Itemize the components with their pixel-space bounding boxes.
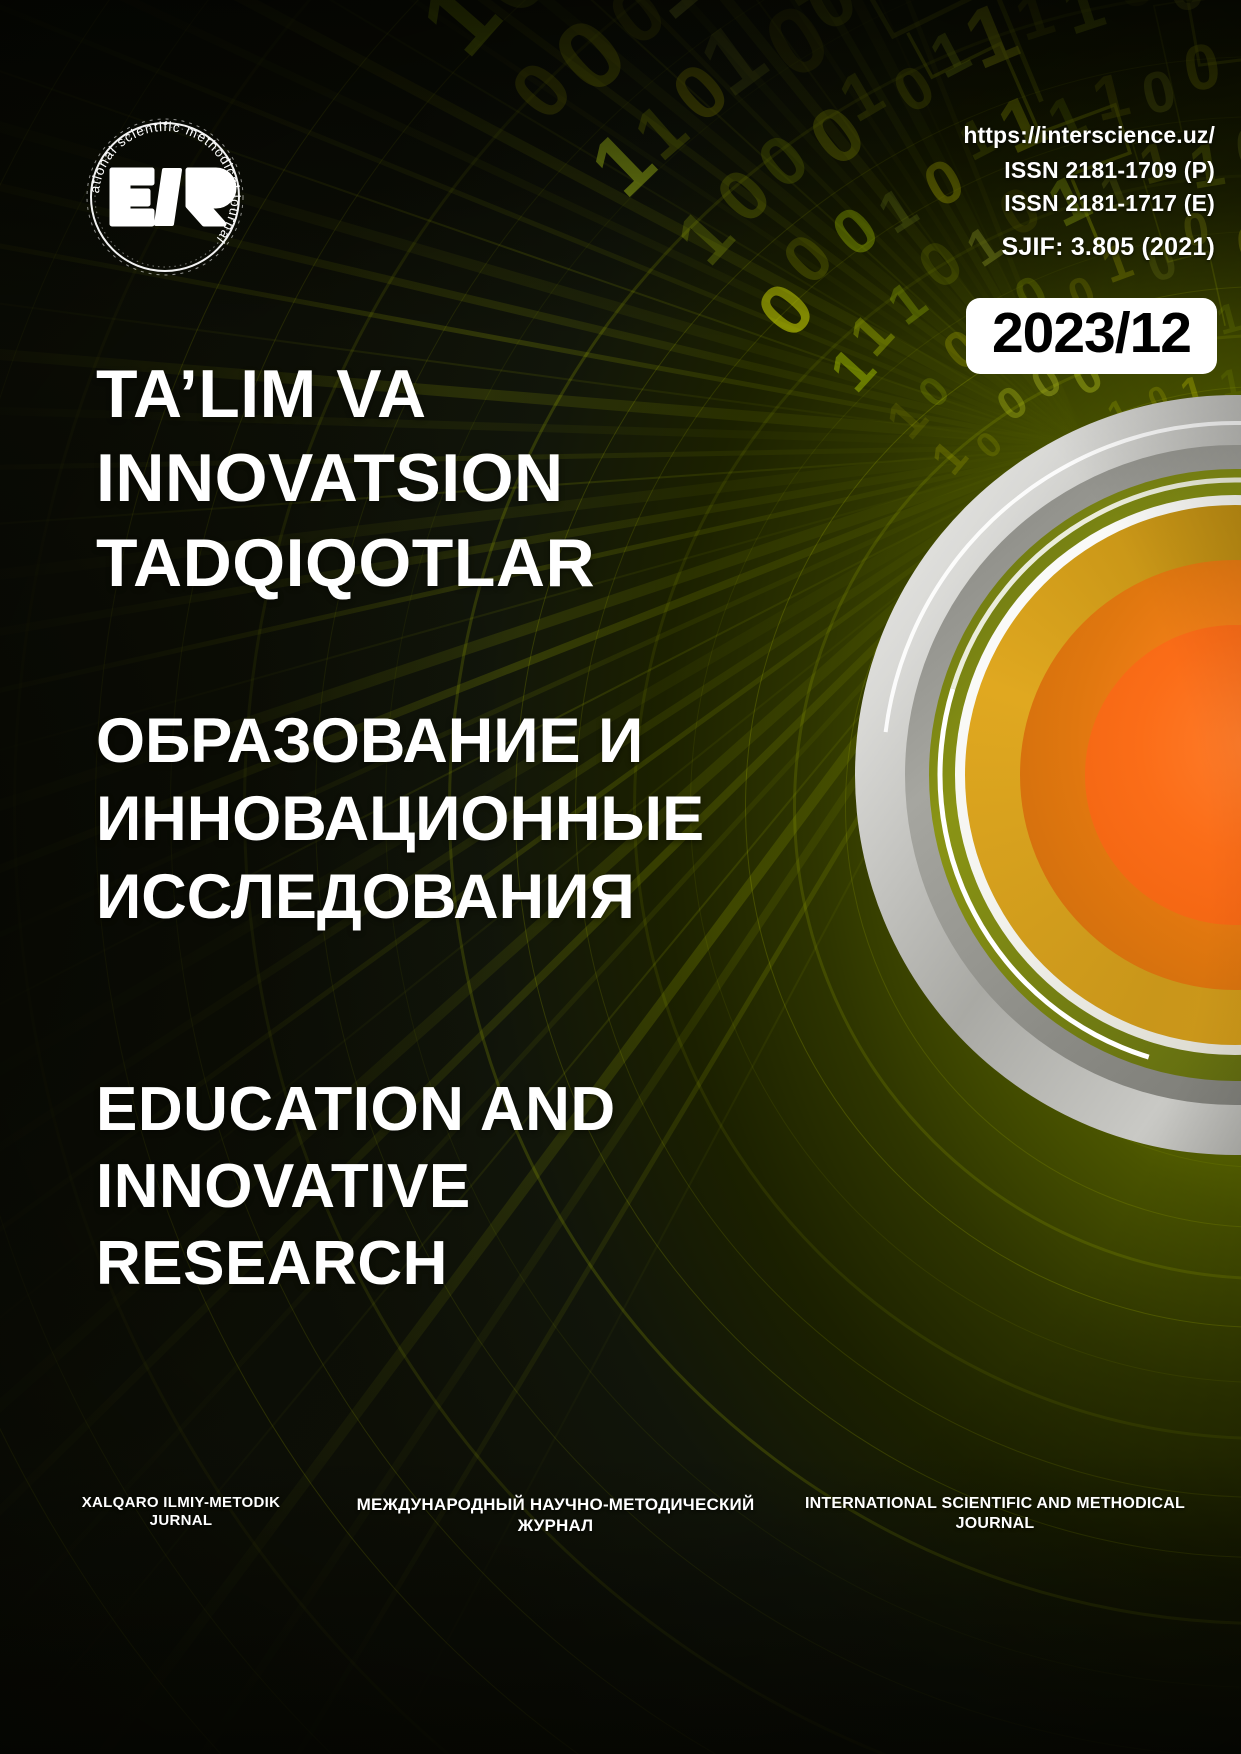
title-english-line-3: RESEARCH — [96, 1226, 616, 1303]
title-english: EDUCATION AND INNOVATIVE RESEARCH — [96, 1072, 616, 1303]
footer: XALQARO ILMIY-METODIK JURNAL МЕЖДУНАРОДН… — [0, 1494, 1241, 1537]
logo-monogram — [112, 170, 234, 224]
journal-cover: 0110101111001000001010000100100100010011… — [0, 0, 1241, 1754]
title-russian-line-3: ИССЛЕДОВАНИЯ — [96, 858, 704, 936]
footer-uzbek: XALQARO ILMIY-METODIK JURNAL — [56, 1494, 306, 1532]
title-russian: ОБРАЗОВАНИЕ И ИННОВАЦИОННЫЕ ИССЛЕДОВАНИЯ — [96, 702, 704, 936]
issn-print: ISSN 2181-1709 (P) — [963, 157, 1215, 184]
footer-russian: МЕЖДУНАРОДНЫЙ НАУЧНО-МЕТОДИЧЕСКИЙ ЖУРНАЛ — [356, 1494, 756, 1537]
sjif-score: SJIF: 3.805 (2021) — [963, 233, 1215, 262]
title-uzbek: TA’LIM VA INNOVATSION TADQIQOTLAR — [96, 352, 595, 605]
masthead: https://interscience.uz/ ISSN 2181-1709 … — [963, 122, 1215, 262]
issn-electronic: ISSN 2181-1717 (E) — [963, 190, 1215, 217]
title-uzbek-line-3: TADQIQOTLAR — [96, 521, 595, 605]
title-uzbek-line-2: INNOVATSION — [96, 436, 595, 520]
journal-logo: International scientific methodical jour… — [76, 108, 254, 286]
issue-badge: 2023/12 — [966, 298, 1217, 374]
journal-url[interactable]: https://interscience.uz/ — [963, 122, 1215, 149]
title-english-line-1: EDUCATION AND — [96, 1072, 616, 1149]
title-uzbek-line-1: TA’LIM VA — [96, 352, 595, 436]
title-russian-line-2: ИННОВАЦИОННЫЕ — [96, 780, 704, 858]
footer-english: INTERNATIONAL SCIENTIFIC AND METHODICAL … — [805, 1494, 1185, 1534]
title-english-line-2: INNOVATIVE — [96, 1149, 616, 1226]
title-russian-line-1: ОБРАЗОВАНИЕ И — [96, 702, 704, 780]
